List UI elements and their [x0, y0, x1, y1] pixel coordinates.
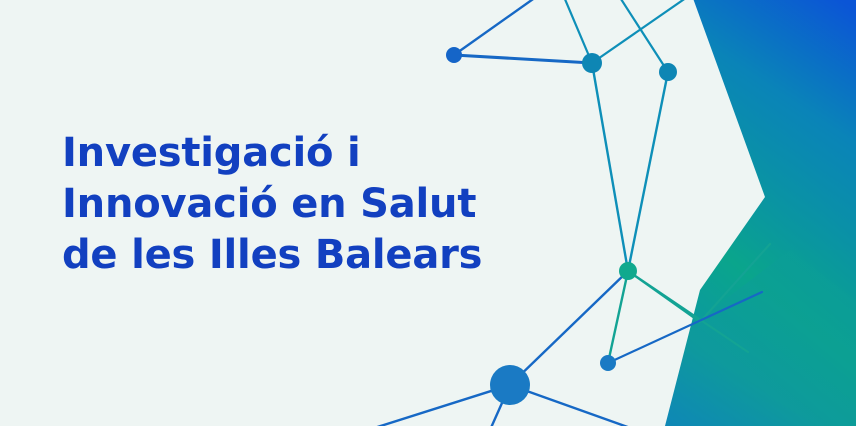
white-angular-panel	[0, 0, 765, 426]
node-teal-mid	[619, 262, 637, 280]
node-blue-lower	[600, 355, 616, 371]
node-right-top	[659, 63, 677, 81]
banner-background-graphic	[0, 0, 856, 426]
node-left-small	[446, 47, 462, 63]
node-hub-large	[490, 365, 530, 405]
node-center-top	[582, 53, 602, 73]
hero-banner: Investigació i Innovació en Salut de les…	[0, 0, 856, 426]
